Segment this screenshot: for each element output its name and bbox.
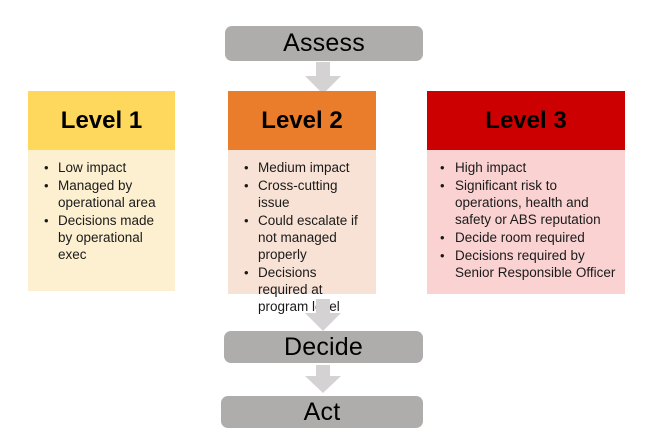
list-item-text: Decide room required [455,230,585,245]
stage-label-assess: Assess [283,31,365,56]
list-item-text: Significant risk to operations, health a… [455,178,601,227]
stage-box-decide[interactable]: Decide [224,331,423,363]
list-item: • Medium impact [258,159,368,176]
level-column-2: Level 2 • Medium impact • Cross-cutting … [228,91,376,294]
list-item: • Could escalate if not managed properly [258,212,368,263]
level-1-header: Level 1 [28,91,175,150]
arrow-down-icon-decide-to-act [305,365,341,395]
list-item-text: Medium impact [258,160,350,175]
bullet-icon: • [440,247,445,264]
list-item: • Managed by operational area [58,177,167,211]
bullet-icon: • [440,229,445,246]
list-item-text: Low impact [58,160,126,175]
level-1-body: • Low impact • Managed by operational ar… [28,150,175,291]
list-item: • Decisions required by Senior Responsib… [455,247,619,281]
list-item: • Low impact [58,159,167,176]
level-3-title: Level 3 [485,109,566,133]
list-item: • Decisions made by operational exec [58,212,167,263]
bullet-icon: • [244,159,249,176]
level-2-header: Level 2 [228,91,376,150]
list-item-text: Could escalate if not managed properly [258,213,358,262]
stage-label-decide: Decide [284,335,363,360]
level-column-3: Level 3 • High impact • Significant risk… [427,91,625,294]
level-1-title: Level 1 [61,109,142,133]
list-item: • High impact [455,159,619,176]
arrow-down-icon-assess-to-levels [305,62,341,94]
level-3-header: Level 3 [427,91,625,150]
list-item: • Cross-cutting issue [258,177,368,211]
list-item: • Decide room required [455,229,619,246]
list-item: • Significant risk to operations, health… [455,177,619,228]
level-3-bullet-list: • High impact • Significant risk to oper… [431,159,621,281]
list-item-text: High impact [455,160,526,175]
level-2-title: Level 2 [261,109,342,133]
list-item-text: Cross-cutting issue [258,178,338,210]
stage-box-act[interactable]: Act [221,396,423,428]
bullet-icon: • [440,177,445,194]
bullet-icon: • [44,159,49,176]
list-item-text: Managed by operational area [58,178,156,210]
escalation-levels-diagram: Assess Level 1 • Low impact • Managed by… [0,0,649,442]
level-2-bullet-list: • Medium impact • Cross-cutting issue • … [232,159,372,315]
list-item-text: Decisions required by Senior Responsible… [455,248,615,280]
bullet-icon: • [440,159,445,176]
stage-box-assess[interactable]: Assess [225,26,423,61]
stage-label-act: Act [304,400,341,425]
level-column-1: Level 1 • Low impact • Managed by operat… [28,91,175,291]
bullet-icon: • [244,177,249,194]
level-2-body: • Medium impact • Cross-cutting issue • … [228,150,376,294]
arrow-head [305,376,341,393]
list-item-text: Decisions made by operational exec [58,213,154,262]
bullet-icon: • [44,177,49,194]
bullet-icon: • [44,212,49,229]
bullet-icon: • [244,212,249,229]
level-1-bullet-list: • Low impact • Managed by operational ar… [32,159,171,263]
bullet-icon: • [244,264,249,281]
level-3-body: • High impact • Significant risk to oper… [427,150,625,294]
arrow-down-icon-levels-to-decide [305,299,341,331]
arrow-head [305,313,341,331]
